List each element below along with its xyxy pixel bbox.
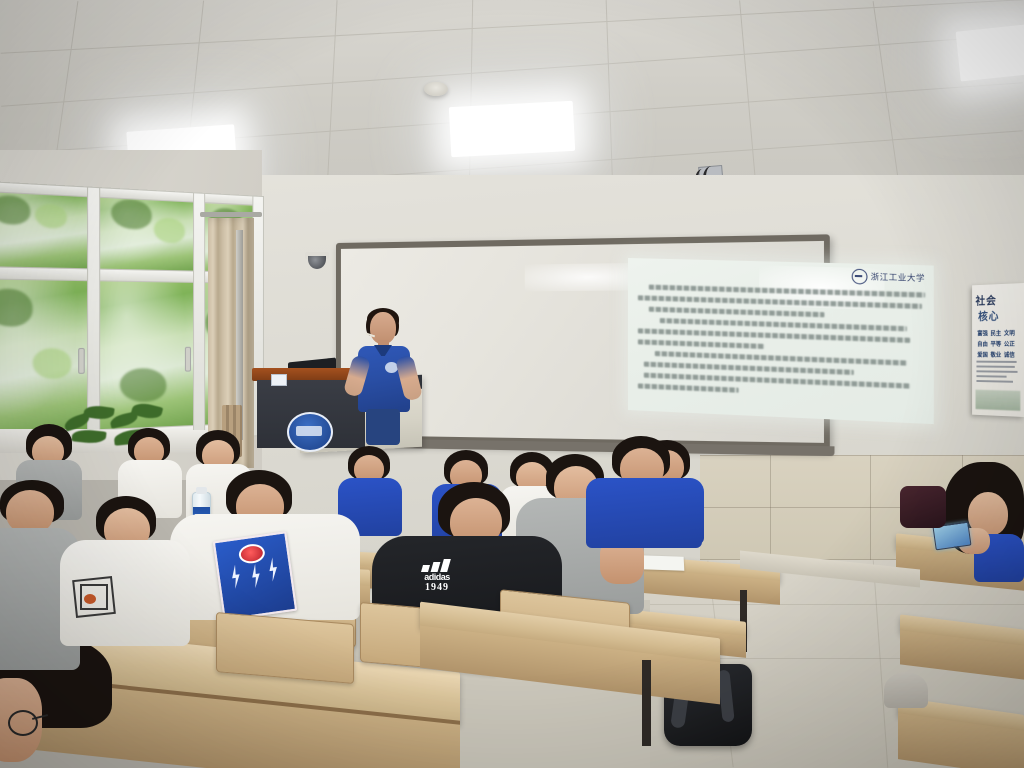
presenter — [352, 312, 418, 442]
curtain-rod — [200, 212, 262, 217]
poster-value: 敬业 — [990, 350, 1001, 359]
smoke-detector — [424, 82, 448, 96]
seat-back-front-a — [216, 612, 354, 684]
adidas-wordmark: adidas — [400, 572, 474, 582]
desk-row-front-right — [420, 620, 720, 730]
eyeglasses — [8, 710, 38, 736]
logo-mark-icon — [852, 269, 868, 285]
paper-handout — [640, 555, 685, 571]
projected-slide: 浙江工业大学 — [628, 258, 934, 424]
ceiling-light-center — [449, 101, 575, 157]
window-handle[interactable] — [78, 348, 85, 374]
poster-heading-2: 核心 — [978, 308, 999, 324]
slide-text-block — [638, 284, 925, 407]
window-handle-2[interactable] — [185, 347, 191, 372]
handbag — [900, 486, 946, 528]
podium-name-card — [271, 374, 287, 386]
poster-values-grid: 富强 民主 文明 自由 平等 公正 爱国 敬业 诚信 — [977, 328, 1015, 359]
adidas-logo-icon: adidas 1949 — [400, 558, 474, 593]
poster-value: 诚信 — [1004, 350, 1015, 359]
poster-value: 自由 — [977, 339, 988, 348]
chair-right[interactable] — [884, 672, 928, 708]
window-post-3 — [193, 192, 205, 439]
tshirt-graphic-print — [213, 531, 297, 621]
lecture-hall-photo: 浙江工业大学 社会 核心 富强 民主 文明 自由 平等 公正 爱国 敬业 诚 — [0, 0, 1024, 768]
poster-value: 文明 — [1004, 328, 1015, 337]
poster-heading-1: 社会 — [976, 292, 997, 308]
slide-logo-text: 浙江工业大学 — [871, 271, 925, 284]
core-values-poster: 社会 核心 富强 民主 文明 自由 平等 公正 爱国 敬业 诚信 — [972, 283, 1024, 417]
adidas-year: 1949 — [400, 582, 474, 593]
poster-value: 民主 — [990, 328, 1001, 337]
poster-illustration — [976, 390, 1021, 411]
presenter-legs — [366, 409, 400, 445]
desk-row-right-3 — [898, 706, 1024, 768]
student-blue-right — [586, 436, 702, 546]
poster-value: 平等 — [990, 339, 1001, 348]
poster-value: 爱国 — [977, 350, 988, 359]
security-camera-icon — [305, 252, 329, 272]
poster-body-text — [976, 361, 1020, 386]
student-white-tee-print — [170, 470, 360, 620]
poster-value: 富强 — [977, 329, 988, 338]
ceiling-light-right — [956, 24, 1024, 81]
university-seal-icon — [287, 412, 333, 452]
student-white-small-print — [60, 496, 190, 646]
slide-university-logo: 浙江工业大学 — [852, 269, 925, 286]
poster-value: 公正 — [1004, 339, 1015, 348]
